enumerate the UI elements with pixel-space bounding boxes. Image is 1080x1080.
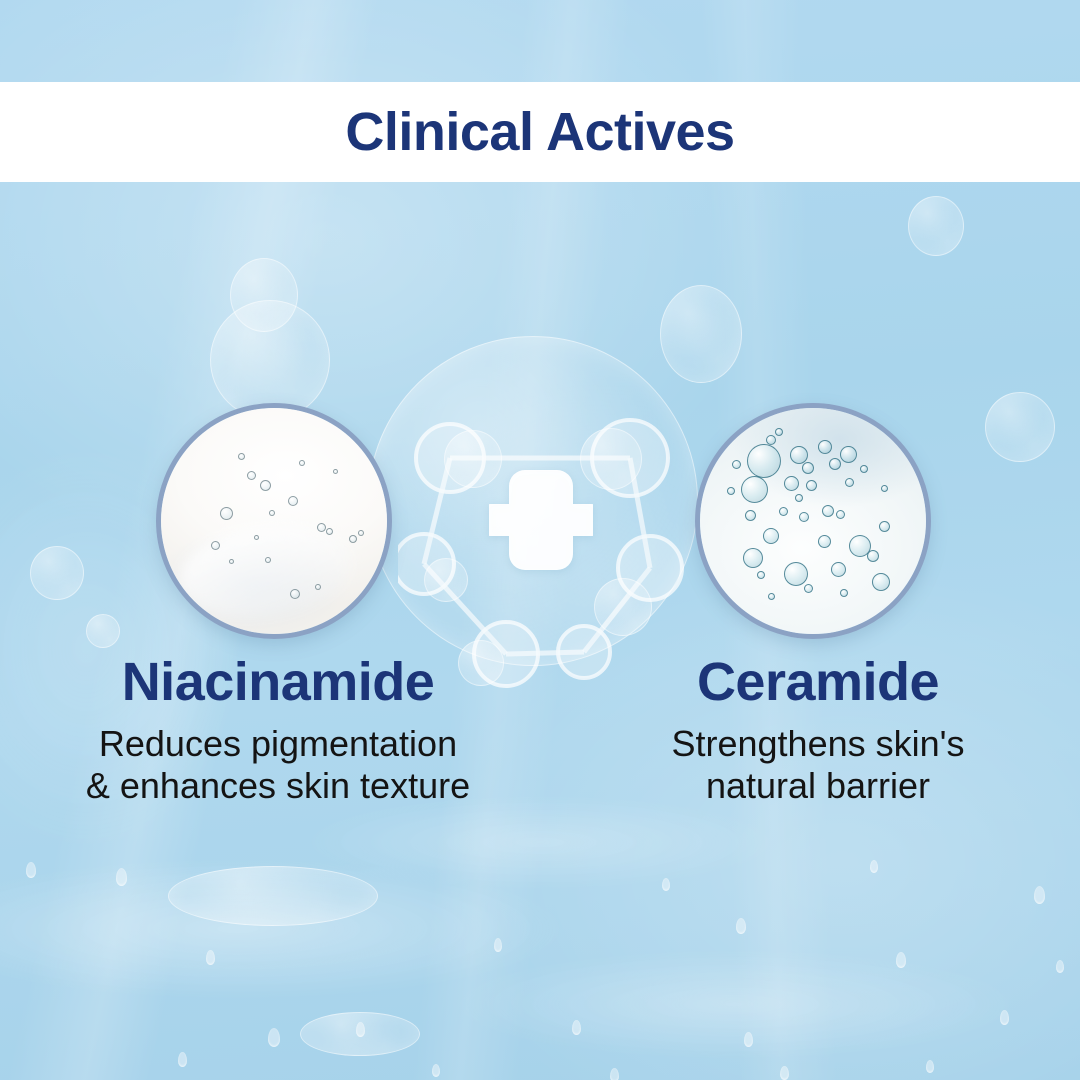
gel-bubble (829, 458, 841, 470)
background-bubble (660, 285, 742, 383)
plus-icon (489, 468, 593, 578)
gel-bubble (766, 435, 776, 445)
gel-bubble (349, 535, 357, 543)
gel-bubble (732, 460, 741, 469)
gel-bubble (872, 573, 890, 591)
gel-bubble (881, 485, 888, 492)
page-title: Clinical Actives (345, 105, 734, 159)
water-droplet (206, 950, 215, 965)
header-band: Clinical Actives (0, 82, 1080, 182)
gel-bubble (745, 510, 756, 521)
water-droplet (116, 868, 127, 886)
cream-gel-texture (161, 408, 387, 634)
water-droplet (780, 1066, 789, 1080)
gel-bubble (836, 510, 845, 519)
niacinamide-swatch (156, 403, 392, 639)
water-droplet (926, 1060, 934, 1073)
background-bubble (230, 258, 298, 332)
water-droplet (268, 1028, 280, 1047)
clear-gel-texture (700, 408, 926, 634)
background-bubble (908, 196, 964, 256)
background-bubble (985, 392, 1055, 462)
active-description-ceramide: Strengthens skin's natural barrier (556, 723, 1080, 808)
water-droplet (356, 1022, 365, 1037)
active-caption-niacinamide: Niacinamide Reduces pigmentation & enhan… (0, 655, 556, 808)
gel-bubble (358, 530, 364, 536)
water-droplet (896, 952, 906, 968)
gel-bubble (741, 476, 768, 503)
gel-bubble (879, 521, 890, 532)
gel-bubble (326, 528, 333, 535)
gel-bubble (763, 528, 779, 544)
water-droplet (1000, 1010, 1009, 1025)
water-droplet (744, 1032, 753, 1047)
gel-bubble (784, 562, 808, 586)
ceramide-swatch (695, 403, 931, 639)
water-droplet (26, 862, 36, 878)
water-droplet (870, 860, 878, 873)
gel-bubble (795, 494, 803, 502)
gel-bubble (757, 571, 765, 579)
water-droplet (1056, 960, 1064, 973)
active-name-niacinamide: Niacinamide (0, 655, 556, 709)
active-name-ceramide: Ceramide (556, 655, 1080, 709)
gel-bubble (238, 453, 245, 460)
gel-bubble (818, 440, 832, 454)
gel-bubble (254, 535, 259, 540)
water-droplet (432, 1064, 440, 1077)
gel-bubble (840, 589, 848, 597)
water-droplet (736, 918, 746, 934)
gel-bubble (802, 462, 814, 474)
gel-bubble (845, 478, 854, 487)
background-bubble (168, 866, 378, 926)
gel-bubble (775, 428, 783, 436)
background-bubble (30, 546, 84, 600)
gel-bubble (743, 548, 763, 568)
gel-bubble (290, 589, 300, 599)
gel-bubble (211, 541, 220, 550)
gel-bubble (831, 562, 846, 577)
clinical-actives-poster: Clinical Actives (0, 0, 1080, 1080)
gel-bubble (818, 535, 831, 548)
background-bubble (86, 614, 120, 648)
gel-bubble (288, 496, 298, 506)
water-droplet (572, 1020, 581, 1035)
active-description-niacinamide: Reduces pigmentation & enhances skin tex… (0, 723, 556, 808)
water-droplet (610, 1068, 619, 1080)
gel-bubble (333, 469, 338, 474)
gel-bubble (784, 476, 799, 491)
active-caption-ceramide: Ceramide Strengthens skin's natural barr… (556, 655, 1080, 808)
water-droplet (662, 878, 670, 891)
gel-bubble (860, 465, 868, 473)
gel-bubble (315, 584, 321, 590)
water-droplet (494, 938, 502, 952)
water-droplet (1034, 886, 1045, 904)
water-droplet (178, 1052, 187, 1067)
gel-bubble (299, 460, 305, 466)
